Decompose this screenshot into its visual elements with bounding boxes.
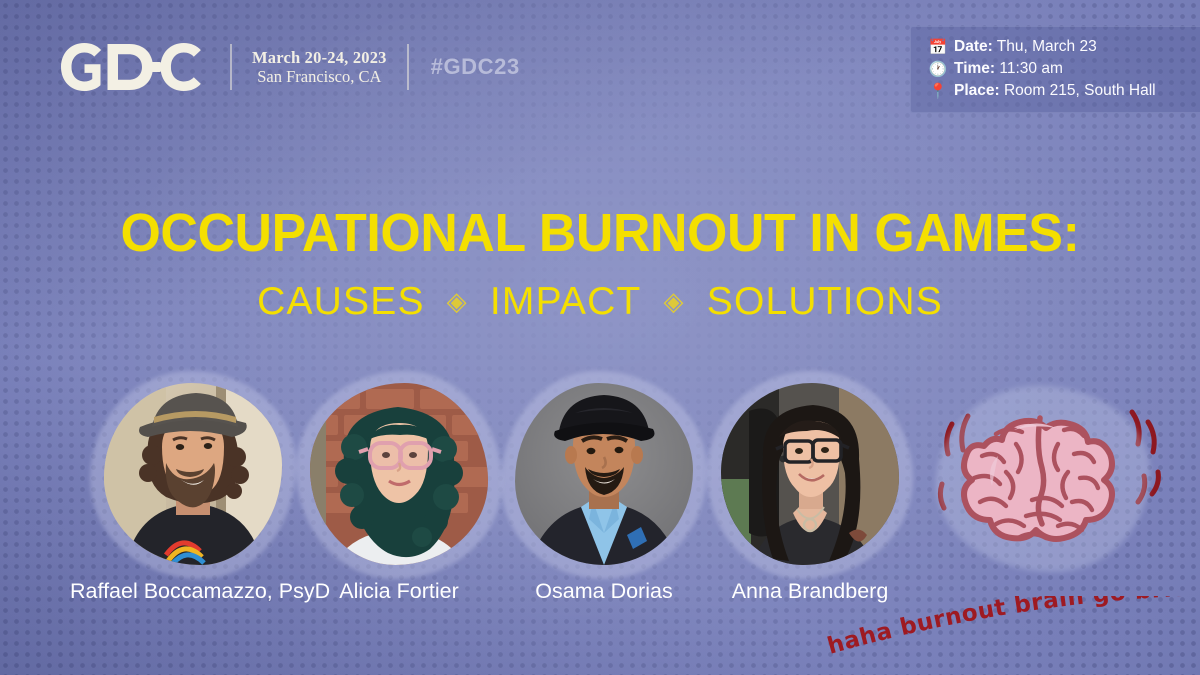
- info-place-text: Place: Room 215, South Hall: [954, 82, 1156, 100]
- avatar: [515, 383, 693, 565]
- subtitle: CAUSES ◈ IMPACT ◈ SOLUTIONS: [0, 280, 1200, 324]
- info-place-value: Room 215, South Hall: [1004, 82, 1156, 99]
- speaker-card-osama: Osama Dorias: [499, 383, 709, 613]
- session-info-box: 📅 Date: Thu, March 23 🕐 Time: 11:30 am 📍…: [910, 26, 1200, 113]
- subtitle-part-solutions: SOLUTIONS: [707, 280, 943, 324]
- info-row-place: 📍 Place: Room 215, South Hall: [927, 82, 1186, 100]
- subtitle-part-causes: CAUSES: [257, 280, 425, 324]
- info-time-value: 11:30 am: [999, 60, 1062, 77]
- slide-header: March 20-24, 2023 San Francisco, CA #GDC…: [60, 36, 520, 98]
- portrait-anna: [721, 383, 899, 565]
- brain-caption: haha burnout brain go brrr: [826, 596, 1186, 658]
- info-place-label: Place:: [954, 82, 1000, 99]
- info-row-date: 📅 Date: Thu, March 23: [927, 38, 1186, 56]
- gdc-session-slide: March 20-24, 2023 San Francisco, CA #GDC…: [0, 0, 1200, 675]
- conference-dates-block: March 20-24, 2023 San Francisco, CA: [252, 48, 387, 86]
- conference-dates: March 20-24, 2023: [252, 48, 387, 67]
- diamond-separator-icon: ◈: [447, 286, 468, 317]
- calendar-icon: 📅: [927, 40, 949, 55]
- clock-icon: 🕐: [927, 62, 949, 77]
- brain-halo: [936, 386, 1150, 572]
- speaker-card-anna: Anna Brandberg: [705, 383, 915, 613]
- info-date-text: Date: Thu, March 23: [954, 38, 1097, 56]
- speaker-card-alicia: Alicia Fortier: [294, 383, 504, 613]
- diamond-separator-icon: ◈: [664, 286, 685, 317]
- avatar: [721, 383, 899, 565]
- info-date-label: Date:: [954, 38, 993, 55]
- brain-caption-text: haha burnout brain go brrr: [826, 596, 1186, 658]
- header-divider-2: [407, 44, 409, 90]
- location-pin-icon: 📍: [927, 84, 949, 99]
- portrait-raffael: [104, 383, 282, 565]
- avatar: [104, 383, 282, 565]
- header-divider-1: [230, 44, 232, 90]
- gdc-logo-icon: [60, 42, 210, 92]
- info-date-value: Thu, March 23: [997, 38, 1097, 55]
- avatar: [310, 383, 488, 565]
- page-title: OCCUPATIONAL BURNOUT IN GAMES:: [24, 205, 1176, 261]
- speaker-card-raffael: Raffael Boccamazzo, PsyD: [88, 383, 298, 613]
- portrait-alicia: [310, 383, 488, 565]
- info-row-time: 🕐 Time: 11:30 am: [927, 60, 1186, 78]
- conference-hashtag: #GDC23: [431, 54, 520, 80]
- info-time-text: Time: 11:30 am: [954, 60, 1063, 78]
- title-block: OCCUPATIONAL BURNOUT IN GAMES: CAUSES ◈ …: [0, 205, 1200, 324]
- portrait-osama: [515, 383, 693, 565]
- brain-illustration-wrap: [922, 378, 1180, 578]
- info-time-label: Time:: [954, 60, 995, 77]
- conference-location: San Francisco, CA: [252, 67, 387, 86]
- subtitle-part-impact: IMPACT: [490, 280, 642, 324]
